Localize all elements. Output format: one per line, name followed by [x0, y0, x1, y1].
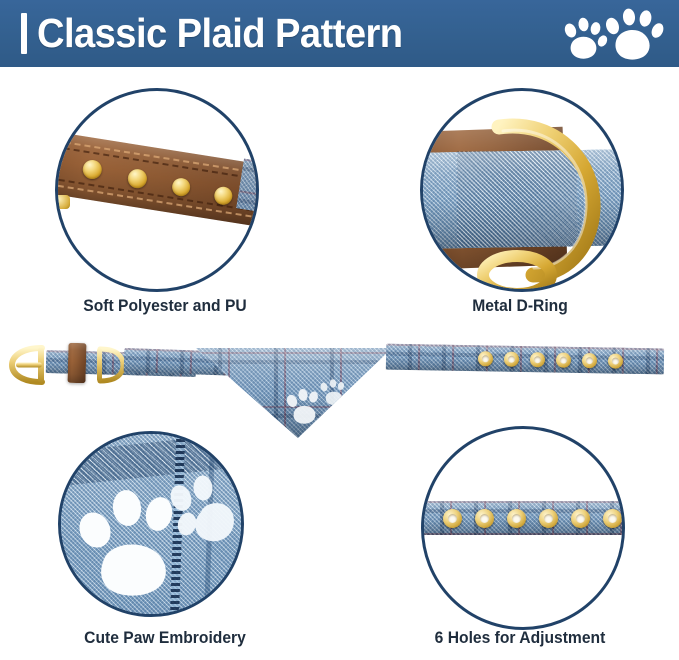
embroidery-paw-small	[319, 379, 344, 405]
adjustment-eyelet	[443, 509, 462, 528]
feature-image-leather-strap	[58, 91, 256, 289]
feature-circle-6-holes-for-adjustment	[421, 426, 625, 630]
collar-eyelet	[608, 353, 623, 368]
paw-print-small-icon	[563, 17, 609, 59]
embroidered-paws	[69, 462, 239, 602]
collar-eyelet	[530, 352, 545, 367]
gold-buckle-edge	[58, 195, 70, 209]
gold-buckle-icon	[8, 344, 60, 386]
adjustment-eyelet	[475, 509, 494, 528]
header-accent-bar	[21, 13, 27, 54]
gold-d-ring-icon	[459, 105, 619, 289]
collar-eyelet	[478, 351, 493, 366]
leather-keeper-loop	[67, 343, 86, 383]
feature-circle-cute-paw-embroidery	[58, 431, 244, 617]
bandana-triangle	[196, 348, 392, 438]
leather-strap	[58, 129, 256, 230]
collar-eyelet-group	[386, 344, 664, 375]
adjustment-eyelet-group	[424, 501, 622, 535]
feature-circle-soft-polyester-and-pu	[55, 88, 259, 292]
feature-image-adjustment-holes	[424, 429, 622, 627]
feature-caption-cute-paw-embroidery: Cute Paw Embroidery	[13, 628, 317, 648]
feature-caption-soft-polyester-and-pu: Soft Polyester and PU	[13, 296, 317, 316]
adjustment-eyelet	[507, 509, 526, 528]
collar-eyelet	[556, 353, 571, 368]
product-image-collar-with-bandana	[0, 330, 679, 430]
embroidery-paw-large	[285, 389, 319, 424]
paw-print-large-icon	[604, 8, 666, 60]
feature-image-paw-embroidery	[61, 434, 241, 614]
page-title: Classic Plaid Pattern	[37, 7, 403, 60]
collar-eyelet	[582, 353, 597, 368]
feature-circle-metal-d-ring	[420, 88, 624, 292]
embroidery-paw-small	[167, 475, 234, 541]
collar-eyelet	[504, 352, 519, 367]
embroidery-paw-large	[74, 488, 175, 595]
adjustment-eyelet	[603, 509, 622, 528]
bandana-paw-embroidery	[280, 376, 354, 434]
paw-prints-icon	[557, 4, 667, 64]
feature-image-d-ring	[423, 91, 621, 289]
infographic-page: Classic Plaid Pattern	[0, 0, 679, 660]
gold-rivet	[127, 168, 149, 190]
header-banner: Classic Plaid Pattern	[0, 0, 679, 67]
collar-d-ring-icon	[92, 344, 126, 386]
gold-rivet	[171, 177, 192, 198]
feature-caption-6-holes-for-adjustment: 6 Holes for Adjustment	[368, 628, 672, 648]
gold-rivet	[81, 159, 103, 181]
adjustment-eyelet	[539, 509, 558, 528]
adjustment-eyelet	[571, 509, 590, 528]
feature-caption-metal-d-ring: Metal D-Ring	[368, 296, 672, 316]
